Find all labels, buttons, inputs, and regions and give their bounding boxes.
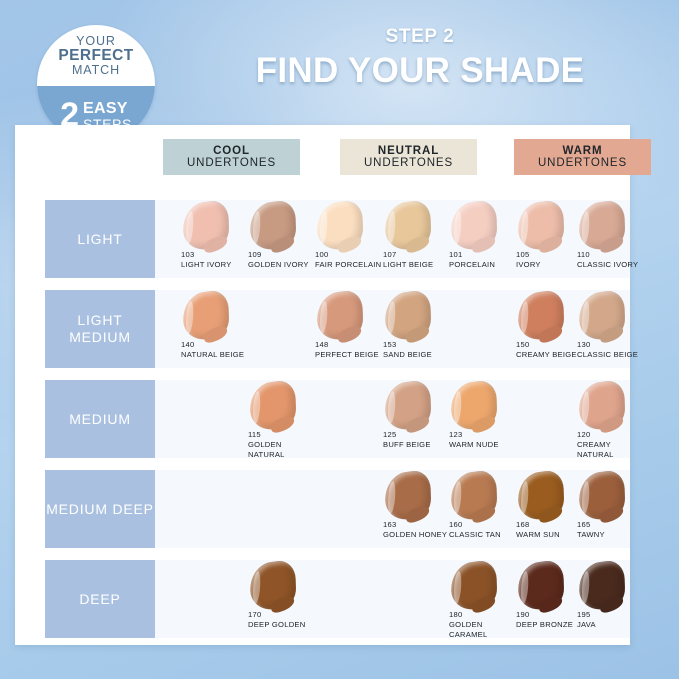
- shade-number: 165: [577, 520, 649, 530]
- shade-number: 107: [383, 250, 455, 260]
- shade-name: FAIR PORCELAIN: [315, 260, 387, 270]
- shade-swatch[interactable]: 195JAVA: [575, 560, 649, 638]
- shade-swatch[interactable]: 160CLASSIC TAN: [447, 470, 521, 548]
- shade-smear-icon: [384, 469, 431, 523]
- shade-name: GOLDEN NATURAL: [248, 440, 320, 460]
- shade-row-medium: MEDIUM 115GOLDEN NATURAL125BUFF BEIGE123…: [15, 380, 630, 458]
- shade-smear-icon: [249, 559, 296, 613]
- shade-smear-icon: [450, 559, 497, 613]
- shade-smear-icon: [517, 289, 564, 343]
- row-swatches-medium: 115GOLDEN NATURAL125BUFF BEIGE123WARM NU…: [155, 380, 630, 458]
- shade-swatch[interactable]: 130CLASSIC BEIGE: [575, 290, 649, 368]
- shade-smear-icon: [384, 379, 431, 433]
- shade-number: 163: [383, 520, 455, 530]
- undertone-neutral-title: NEUTRAL: [378, 145, 439, 157]
- shade-number: 101: [449, 250, 521, 260]
- shade-name: LIGHT BEIGE: [383, 260, 455, 270]
- shade-chart-card: COOL UNDERTONES NEUTRAL UNDERTONES WARM …: [15, 125, 630, 645]
- shade-swatch[interactable]: 163GOLDEN HONEY: [381, 470, 455, 548]
- shade-swatch[interactable]: 101PORCELAIN: [447, 200, 521, 278]
- shade-number: 140: [181, 340, 253, 350]
- shade-caption: 163GOLDEN HONEY: [383, 520, 455, 540]
- shade-caption: 107LIGHT BEIGE: [383, 250, 455, 270]
- shade-row-light: LIGHT 103LIGHT IVORY109GOLDEN IVORY100FA…: [15, 200, 630, 278]
- row-label-light-medium: LIGHT MEDIUM: [45, 290, 155, 368]
- shade-smear-icon: [578, 199, 625, 253]
- shade-name: CLASSIC TAN: [449, 530, 521, 540]
- page-heading: STEP 2 FIND YOUR SHADE: [200, 26, 640, 91]
- shade-smear-icon: [517, 559, 564, 613]
- shade-smear-icon: [249, 379, 296, 433]
- shade-caption: 123WARM NUDE: [449, 430, 521, 450]
- shade-swatch[interactable]: 140NATURAL BEIGE: [179, 290, 253, 368]
- shade-caption: 115GOLDEN NATURAL: [248, 430, 320, 460]
- shade-name: GOLDEN IVORY: [248, 260, 320, 270]
- undertone-header-neutral: NEUTRAL UNDERTONES: [340, 139, 477, 175]
- shade-number: 130: [577, 340, 649, 350]
- shade-name: CREAMY NATURAL: [577, 440, 649, 460]
- shade-swatch[interactable]: 125BUFF BEIGE: [381, 380, 455, 458]
- shade-name: LIGHT IVORY: [181, 260, 253, 270]
- shade-number: 148: [315, 340, 387, 350]
- undertone-header-warm: WARM UNDERTONES: [514, 139, 651, 175]
- shade-name: GOLDEN HONEY: [383, 530, 455, 540]
- shade-caption: 165TAWNY: [577, 520, 649, 540]
- step-label: STEP 2: [200, 26, 640, 48]
- shade-row-deep: DEEP 170DEEP GOLDEN180GOLDEN CARAMEL190D…: [15, 560, 630, 638]
- shade-caption: 148PERFECT BEIGE: [315, 340, 387, 360]
- shade-number: 160: [449, 520, 521, 530]
- shade-name: DEEP GOLDEN: [248, 620, 320, 630]
- shade-caption: 110CLASSIC IVORY: [577, 250, 649, 270]
- shade-number: 109: [248, 250, 320, 260]
- shade-caption: 100FAIR PORCELAIN: [315, 250, 387, 270]
- row-swatches-light: 103LIGHT IVORY109GOLDEN IVORY100FAIR POR…: [155, 200, 630, 278]
- shade-smear-icon: [316, 289, 363, 343]
- shade-swatch[interactable]: 103LIGHT IVORY: [179, 200, 253, 278]
- shade-caption: 195JAVA: [577, 610, 649, 630]
- shade-smear-icon: [578, 469, 625, 523]
- shade-caption: 153SAND BEIGE: [383, 340, 455, 360]
- shade-name: PERFECT BEIGE: [315, 350, 387, 360]
- shade-row-medium-deep: MEDIUM DEEP 163GOLDEN HONEY160CLASSIC TA…: [15, 470, 630, 548]
- shade-caption: 130CLASSIC BEIGE: [577, 340, 649, 360]
- shade-name: GOLDEN CARAMEL: [449, 620, 521, 640]
- shade-smear-icon: [450, 199, 497, 253]
- badge-line-3: MATCH: [72, 64, 120, 77]
- shade-smear-icon: [182, 289, 229, 343]
- shade-smear-icon: [182, 199, 229, 253]
- shade-swatch[interactable]: 110CLASSIC IVORY: [575, 200, 649, 278]
- shade-number: 180: [449, 610, 521, 620]
- shade-swatch[interactable]: 100FAIR PORCELAIN: [313, 200, 387, 278]
- shade-caption: 125BUFF BEIGE: [383, 430, 455, 450]
- shade-name: PORCELAIN: [449, 260, 521, 270]
- shade-name: JAVA: [577, 620, 649, 630]
- row-label-light: LIGHT: [45, 200, 155, 278]
- shade-swatch[interactable]: 170DEEP GOLDEN: [246, 560, 320, 638]
- shade-swatch[interactable]: 123WARM NUDE: [447, 380, 521, 458]
- undertone-warm-title: WARM: [562, 145, 602, 157]
- shade-smear-icon: [384, 289, 431, 343]
- shade-number: 120: [577, 430, 649, 440]
- shade-caption: 180GOLDEN CARAMEL: [449, 610, 521, 640]
- undertone-neutral-sub: UNDERTONES: [364, 157, 453, 169]
- shade-smear-icon: [517, 469, 564, 523]
- shade-number: 123: [449, 430, 521, 440]
- badge-word-easy: EASY: [83, 101, 132, 117]
- shade-name: CLASSIC BEIGE: [577, 350, 649, 360]
- shade-swatch[interactable]: 180GOLDEN CARAMEL: [447, 560, 521, 638]
- shade-row-light-medium: LIGHT MEDIUM 140NATURAL BEIGE148PERFECT …: [15, 290, 630, 368]
- shade-caption: 103LIGHT IVORY: [181, 250, 253, 270]
- undertone-warm-sub: UNDERTONES: [538, 157, 627, 169]
- shade-caption: 109GOLDEN IVORY: [248, 250, 320, 270]
- shade-caption: 101PORCELAIN: [449, 250, 521, 270]
- shade-caption: 120CREAMY NATURAL: [577, 430, 649, 460]
- shade-swatch[interactable]: 120CREAMY NATURAL: [575, 380, 649, 458]
- shade-finder-infographic: YOUR PERFECT MATCH 2 EASY STEPS STEP 2 F…: [0, 0, 679, 679]
- badge-top: YOUR PERFECT MATCH: [37, 25, 155, 86]
- shade-smear-icon: [316, 199, 363, 253]
- badge-line-2: PERFECT: [58, 48, 133, 64]
- shade-number: 125: [383, 430, 455, 440]
- undertone-cool-title: COOL: [213, 145, 250, 157]
- shade-number: 153: [383, 340, 455, 350]
- shade-number: 195: [577, 610, 649, 620]
- shade-swatch[interactable]: 165TAWNY: [575, 470, 649, 548]
- shade-smear-icon: [578, 289, 625, 343]
- shade-name: WARM NUDE: [449, 440, 521, 450]
- shade-swatch[interactable]: 148PERFECT BEIGE: [313, 290, 387, 368]
- shade-swatch[interactable]: 109GOLDEN IVORY: [246, 200, 320, 278]
- shade-name: SAND BEIGE: [383, 350, 455, 360]
- shade-number: 100: [315, 250, 387, 260]
- shade-name: CLASSIC IVORY: [577, 260, 649, 270]
- shade-smear-icon: [450, 469, 497, 523]
- shade-swatch[interactable]: 115GOLDEN NATURAL: [246, 380, 320, 458]
- row-label-medium: MEDIUM: [45, 380, 155, 458]
- shade-smear-icon: [384, 199, 431, 253]
- row-swatches-light-medium: 140NATURAL BEIGE148PERFECT BEIGE153SAND …: [155, 290, 630, 368]
- shade-smear-icon: [517, 199, 564, 253]
- shade-smear-icon: [249, 199, 296, 253]
- badge-line-1: YOUR: [76, 35, 116, 48]
- shade-caption: 140NATURAL BEIGE: [181, 340, 253, 360]
- shade-number: 115: [248, 430, 320, 440]
- row-label-deep: DEEP: [45, 560, 155, 638]
- shade-number: 110: [577, 250, 649, 260]
- row-swatches-medium-deep: 163GOLDEN HONEY160CLASSIC TAN168WARM SUN…: [155, 470, 630, 548]
- shade-name: BUFF BEIGE: [383, 440, 455, 450]
- page-title: FIND YOUR SHADE: [200, 51, 640, 91]
- shade-caption: 160CLASSIC TAN: [449, 520, 521, 540]
- shade-name: TAWNY: [577, 530, 649, 540]
- undertone-header-row: COOL UNDERTONES NEUTRAL UNDERTONES WARM …: [15, 125, 630, 173]
- shade-number: 170: [248, 610, 320, 620]
- shade-smear-icon: [578, 559, 625, 613]
- shade-number: 103: [181, 250, 253, 260]
- undertone-cool-sub: UNDERTONES: [187, 157, 276, 169]
- shade-smear-icon: [450, 379, 497, 433]
- shade-swatch[interactable]: 153SAND BEIGE: [381, 290, 455, 368]
- row-swatches-deep: 170DEEP GOLDEN180GOLDEN CARAMEL190DEEP B…: [155, 560, 630, 638]
- undertone-header-cool: COOL UNDERTONES: [163, 139, 300, 175]
- shade-name: NATURAL BEIGE: [181, 350, 253, 360]
- shade-caption: 170DEEP GOLDEN: [248, 610, 320, 630]
- shade-smear-icon: [578, 379, 625, 433]
- shade-swatch[interactable]: 107LIGHT BEIGE: [381, 200, 455, 278]
- row-label-medium-deep: MEDIUM DEEP: [45, 470, 155, 548]
